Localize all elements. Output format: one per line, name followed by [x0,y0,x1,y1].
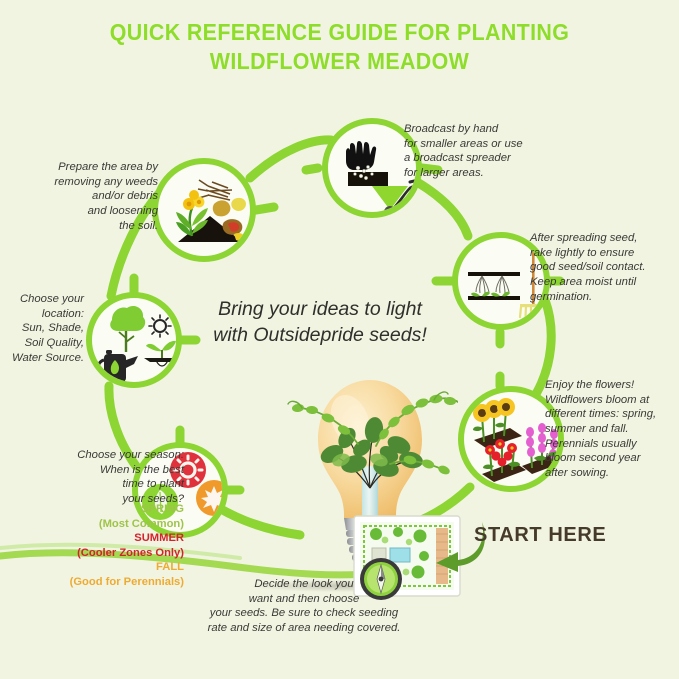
callout-location: Choose your location: Sun, Shade, Soil Q… [2,292,84,365]
callout-broadcast: Broadcast by hand for smaller areas or u… [404,122,564,181]
season-spring-note: (Most Common) [6,517,184,532]
season-summer-note: (Cooler Zones Only) [6,546,184,561]
center-slogan: Bring your ideas to light with Outsidepr… [160,296,480,349]
title-line-2: WILDFLOWER MEADOW [24,47,655,76]
callout-season: Choose your season: When is the best tim… [6,448,184,507]
infographic-canvas: QUICK REFERENCE GUIDE FOR PLANTING WILDF… [0,0,679,679]
callout-prepare: Prepare the area by removing any weeds a… [38,160,158,233]
season-summer-name: SUMMER [6,531,184,546]
season-legend: SPRING (Most Common) SUMMER (Cooler Zone… [6,502,184,589]
season-fall-note: (Good for Perennials) [6,575,184,590]
title-line-1: QUICK REFERENCE GUIDE FOR PLANTING [110,19,569,45]
callout-decide: Decide the look you want and then choose… [178,577,430,636]
page-title: QUICK REFERENCE GUIDE FOR PLANTING WILDF… [24,18,655,77]
callout-rake: After spreading seed, rake lightly to en… [530,231,679,304]
season-spring-name: SPRING [6,502,184,517]
start-here-label: START HERE [474,524,606,547]
step-node-prepare[interactable] [152,158,256,262]
season-fall-name: FALL [6,560,184,575]
callout-enjoy: Enjoy the flowers! Wildflowers bloom at … [545,378,679,481]
